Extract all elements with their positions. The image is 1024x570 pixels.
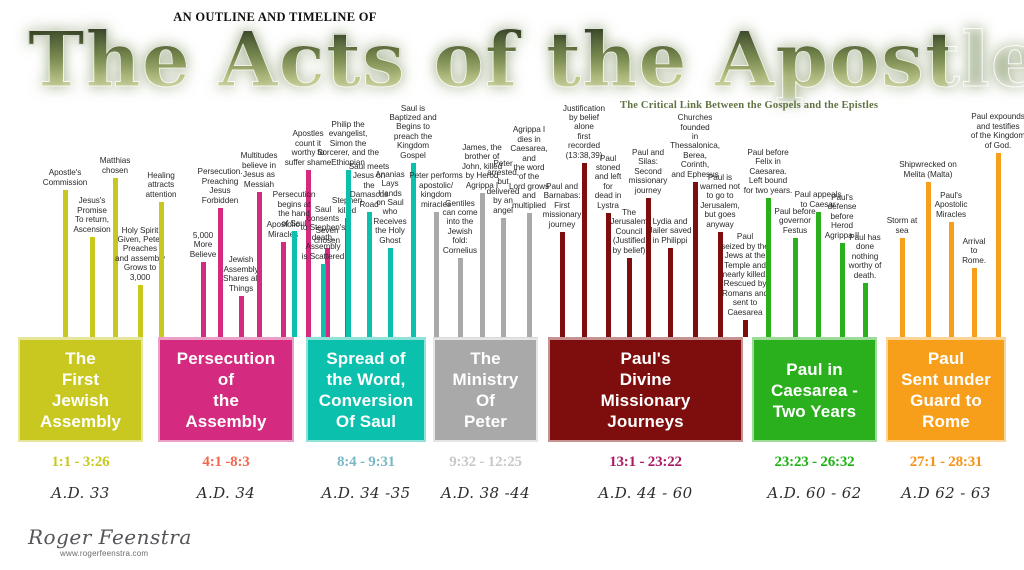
section-box-paul-sent-to-rome[interactable]: PaulSent underGuard toRome	[886, 338, 1006, 442]
section-date: A.D. 38 -44	[427, 484, 544, 502]
author-website: www.rogerfeenstra.com	[60, 549, 148, 558]
section-box-persecution-of-assembly[interactable]: PersecutionoftheAssembly	[158, 338, 294, 442]
event-label: ChurchesfoundedinThessalonica,Berea,Cori…	[659, 113, 731, 179]
section-box-spread-of-the-word[interactable]: Spread ofthe Word,ConversionOf Saul	[306, 338, 426, 442]
event-marker	[560, 232, 565, 337]
event-marker	[239, 296, 244, 337]
section-box-label: PersecutionoftheAssembly	[177, 348, 275, 432]
section-date: A.D. 44 - 60	[542, 484, 749, 502]
section-box-pauls-missionary-journeys[interactable]: Paul'sDivineMissionaryJourneys	[548, 338, 743, 442]
section-box-label: Paul inCaesarea -Two Years	[771, 359, 858, 422]
section-box-first-jewish-assembly[interactable]: TheFirstJewishAssembly	[18, 338, 143, 442]
event-marker	[863, 283, 868, 337]
timeline-section-spread-of-the-word: Persecutionbegins atthe handof SaulSaulc…	[306, 0, 426, 455]
section-reference: 4:1 -8:3	[158, 454, 294, 471]
author-signature: Roger Feenstra	[28, 525, 192, 549]
timeline-section-paul-sent-to-rome: Storm atseaShipwrecked onMelita (Malta)P…	[886, 0, 1006, 455]
event-marker	[458, 258, 463, 337]
event-marker	[627, 258, 632, 337]
timeline-section-ministry-of-peter: Peter performsapostolic/kingdommiraclesG…	[433, 0, 538, 455]
timeline-section-first-jewish-assembly: Apostle'sCommissionJesus'sPromiseTo retu…	[18, 0, 143, 455]
event-marker	[90, 237, 95, 337]
section-reference: 9:32 - 12:25	[433, 454, 538, 471]
section-box-label: PaulSent underGuard toRome	[901, 348, 991, 432]
section-box-label: Spread ofthe Word,ConversionOf Saul	[319, 348, 414, 432]
event-marker	[501, 218, 506, 337]
event-label: JewishAssemblyShares allThings	[205, 255, 277, 293]
event-label: Paul expoundsand testifiesof the Kingdom…	[962, 112, 1024, 150]
event-label: Shipwrecked onMelita (Malta)	[892, 160, 964, 179]
section-date: A.D. 60 - 62	[746, 484, 883, 502]
section-box-ministry-of-peter[interactable]: TheMinistryOfPeter	[433, 338, 538, 442]
section-reference: 1:1 - 3:26	[18, 454, 143, 471]
event-marker	[996, 153, 1001, 337]
section-date: A.D. 34	[152, 484, 300, 502]
timeline-section-paul-in-caesarea: Paul beforeFelix inCaesarea.Left boundfo…	[752, 0, 877, 455]
section-reference: 8:4 - 9:31	[306, 454, 426, 471]
event-label: Philip theevangelist,Simon theSorcerer, …	[312, 120, 384, 167]
section-reference: 13:1 - 23:22	[548, 454, 743, 471]
event-marker	[668, 248, 673, 337]
section-box-paul-in-caesarea[interactable]: Paul inCaesarea -Two Years	[752, 338, 877, 442]
section-date: A.D. 33	[12, 484, 149, 502]
event-marker	[321, 264, 326, 337]
event-marker	[281, 242, 286, 337]
section-box-label: TheFirstJewishAssembly	[40, 348, 121, 432]
infographic-canvas: The Acts of the Apostles AN OUTLINE AND …	[0, 0, 1024, 570]
timeline-section-pauls-missionary-journeys: Paul andBarnabas:FirstmissionaryjourneyJ…	[548, 0, 743, 455]
section-date: A.D 62 - 63	[880, 484, 1012, 502]
event-marker	[388, 248, 393, 337]
event-marker	[972, 268, 977, 337]
section-box-label: TheMinistryOfPeter	[453, 348, 519, 432]
event-marker	[138, 285, 143, 337]
event-marker	[900, 238, 905, 337]
section-box-label: Paul'sDivineMissionaryJourneys	[601, 348, 691, 432]
section-reference: 27:1 - 28:31	[886, 454, 1006, 471]
event-marker	[527, 213, 532, 337]
event-label: Justificationby beliefalonefirstrecorded…	[548, 104, 620, 160]
event-label: Paul beforeFelix inCaesarea.Left boundfo…	[732, 148, 804, 195]
section-date: A.D. 34 -35	[300, 484, 432, 502]
event-marker	[743, 320, 748, 337]
event-marker	[793, 238, 798, 337]
event-label: Paul'sApostolicMiracles	[915, 191, 987, 219]
section-reference: 23:23 - 26:32	[752, 454, 877, 471]
